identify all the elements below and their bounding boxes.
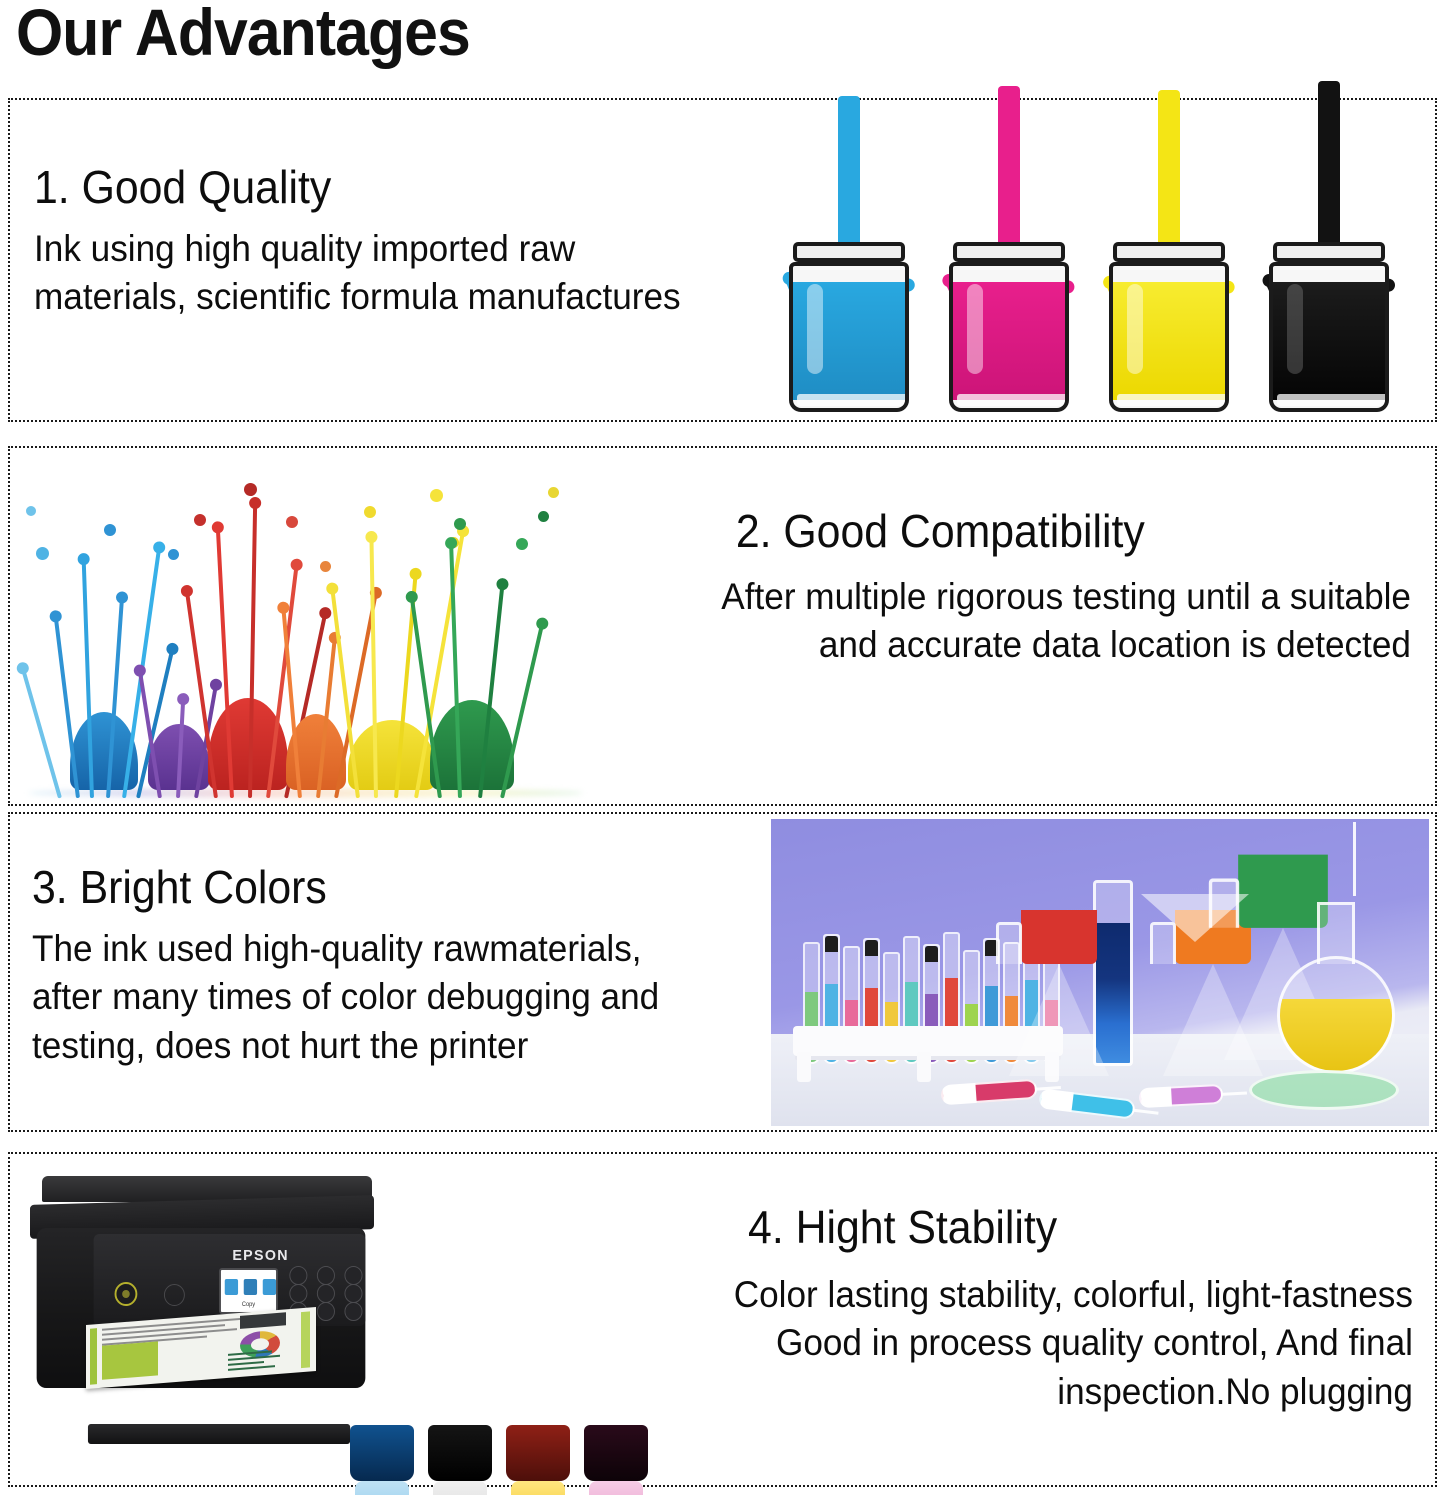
section-1-text: 1. Good Quality Ink using high quality i…	[34, 162, 715, 322]
printed-bar-chart	[228, 1349, 284, 1371]
glass-stirring-rod	[1353, 822, 1356, 896]
section-2-body: After multiple rigorous testing until a …	[721, 573, 1411, 671]
petri-dish	[1249, 1070, 1399, 1110]
black-bottle-cap	[433, 1481, 487, 1495]
section-4-body-line-1: Color lasting stability, colorful, light…	[734, 1271, 1413, 1320]
section-3-heading: 3. Bright Colors	[32, 862, 646, 913]
advantages-infographic: Our Advantages 1. Good Quality Ink using…	[0, 0, 1445, 1495]
round-bottom-flask-yellow	[1277, 956, 1395, 1074]
lcd-label: Copy	[221, 1302, 276, 1310]
advantage-panel-good-compatibility: 2. Good Compatibility After multiple rig…	[8, 446, 1437, 806]
yellow-jar	[1109, 252, 1229, 412]
printer-lcd-screen: Copy	[219, 1268, 278, 1314]
round-flask-neck	[1317, 902, 1355, 964]
section-2-text: 2. Good Compatibility After multiple rig…	[685, 506, 1411, 670]
section-3-text: 3. Bright Colors The ink used high-quali…	[32, 862, 692, 1071]
advantage-panel-good-quality: 1. Good Quality Ink using high quality i…	[8, 98, 1437, 422]
section-4-body-line-2: Good in process quality control, And fin…	[734, 1319, 1413, 1368]
section-4-body-line-3: inspection.No plugging	[734, 1368, 1413, 1417]
magenta-bottle-cap	[589, 1481, 643, 1495]
home-button[interactable]	[164, 1284, 185, 1306]
epson-printer: EPSON Copy	[24, 1176, 374, 1426]
black-jar	[1269, 252, 1389, 412]
laboratory-glassware-image	[771, 819, 1429, 1126]
section-4-heading: 4. Hight Stability	[748, 1202, 1413, 1253]
rainbow-paint-splash-image	[18, 454, 598, 798]
epson-logo: EPSON	[232, 1246, 289, 1266]
erlenmeyer-flask-red	[1009, 964, 1109, 1076]
cyan-bottle-cap	[355, 1481, 409, 1495]
printer-output-tray	[88, 1424, 350, 1444]
section-2-heading: 2. Good Compatibility	[736, 506, 1411, 557]
section-4-text: 4. Hight Stability Color lasting stabili…	[698, 1202, 1413, 1417]
epson-printer-with-ink-bottles-image: EPSON Copy	[16, 1158, 656, 1483]
advantage-panel-hight-stability: EPSON Copy	[8, 1152, 1437, 1487]
section-4-body: Color lasting stability, colorful, light…	[734, 1271, 1413, 1417]
section-3-body-line-2: after many times of color debugging and	[32, 973, 659, 1022]
page-title: Our Advantages	[16, 0, 470, 67]
advantage-panel-bright-colors: 3. Bright Colors The ink used high-quali…	[8, 812, 1437, 1132]
section-1-body-line-2: materials, scientific formula manufactur…	[34, 273, 681, 322]
section-1-body: Ink using high quality imported raw mate…	[34, 225, 681, 323]
yellow-bottle-cap	[511, 1481, 565, 1495]
power-button[interactable]	[115, 1282, 138, 1306]
cyan-jar	[789, 252, 909, 412]
section-1-body-line-1: Ink using high quality imported raw	[34, 225, 681, 274]
section-3-body-line-1: The ink used high-quality rawmaterials,	[32, 925, 659, 974]
glass-funnel	[1141, 894, 1249, 942]
section-2-body-line-1: After multiple rigorous testing until a …	[721, 573, 1411, 622]
section-1-heading: 1. Good Quality	[34, 162, 667, 213]
printer-control-panel: EPSON Copy	[94, 1234, 366, 1326]
section-3-body: The ink used high-quality rawmaterials, …	[32, 925, 659, 1071]
section-3-body-line-3: testing, does not hurt the printer	[32, 1022, 659, 1071]
cmyk-ink-splash-jars-image	[769, 104, 1429, 420]
section-2-body-line-2: and accurate data location is detected	[721, 621, 1411, 670]
magenta-jar	[949, 252, 1069, 412]
